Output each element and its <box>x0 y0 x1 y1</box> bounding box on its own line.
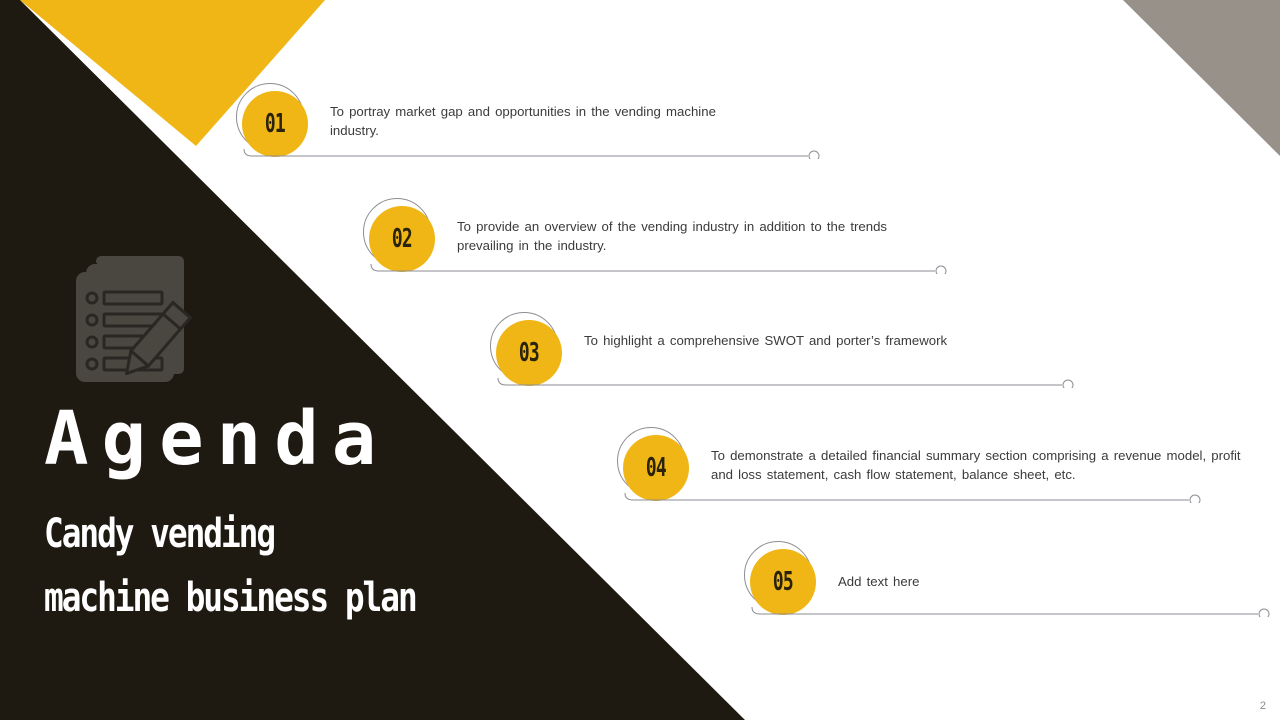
badge-number: 05 <box>773 567 793 596</box>
agenda-item-text: To portray market gap and opportunities … <box>330 102 730 140</box>
agenda-item-text: Add text here <box>838 572 1238 591</box>
agenda-item-text: To demonstrate a detailed financial summ… <box>711 446 1251 484</box>
badge-number: 01 <box>265 109 285 138</box>
agenda-item-text: To provide an overview of the vending in… <box>457 217 927 255</box>
item-connector-line-05 <box>750 605 1270 617</box>
badge-number: 04 <box>646 453 666 482</box>
badge-number: 02 <box>392 224 412 253</box>
item-connector-line-04 <box>623 491 1201 503</box>
agenda-item-text: To highlight a comprehensive SWOT and po… <box>584 331 984 350</box>
agenda-slide: Agenda Candy vending machine business pl… <box>0 0 1280 720</box>
page-number: 2 <box>1260 700 1266 712</box>
item-connector-line-01 <box>242 147 820 159</box>
agenda-items-list: 01 To portray market gap and opportuniti… <box>0 0 1280 720</box>
item-connector-line-02 <box>369 262 947 274</box>
badge-number: 03 <box>519 338 539 367</box>
item-connector-line-03 <box>496 376 1074 388</box>
